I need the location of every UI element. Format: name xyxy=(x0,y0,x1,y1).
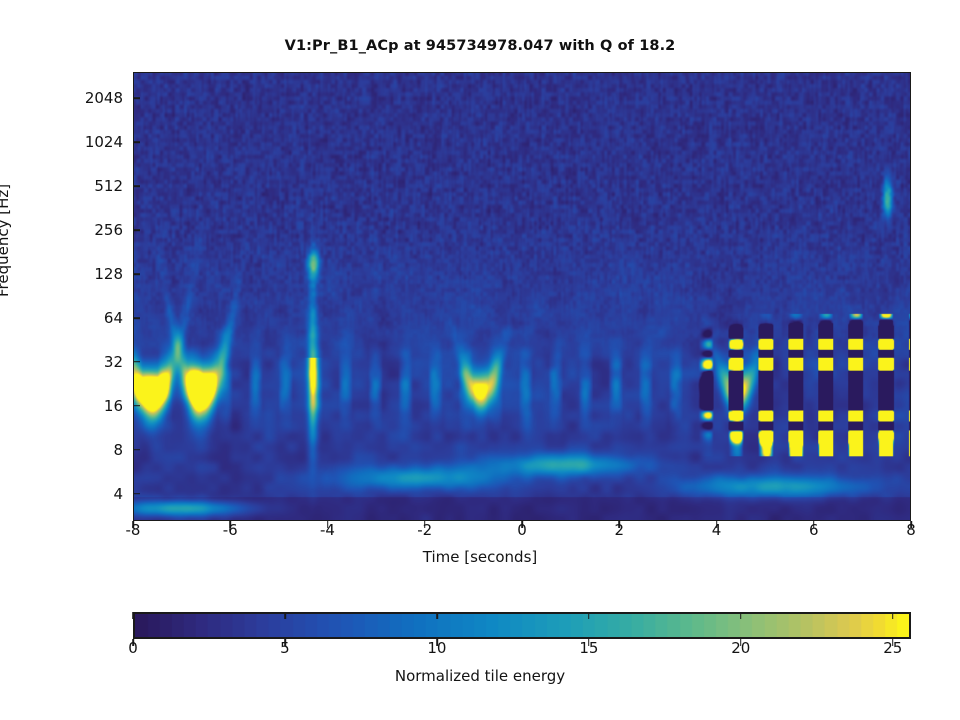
y-tick-mark-32 xyxy=(133,361,140,363)
colorbar-tick-mark-top-10 xyxy=(436,612,438,619)
x-tick-label-0: 0 xyxy=(517,521,527,539)
y-tick-mark-4 xyxy=(133,493,140,495)
y-tick-label-256: 256 xyxy=(61,221,123,239)
colorbar-tick-mark-top-0 xyxy=(132,612,134,619)
y-tick-label-16: 16 xyxy=(61,397,123,415)
x-tick-label--4: -4 xyxy=(320,521,335,539)
y-tick-mark-128 xyxy=(133,273,140,275)
y-tick-mark-8 xyxy=(133,449,140,451)
y-tick-mark-2048 xyxy=(133,97,140,99)
colorbar-tick-label-0: 0 xyxy=(128,639,138,657)
x-tick-label-8: 8 xyxy=(906,521,916,539)
colorbar-tick-label-10: 10 xyxy=(427,639,446,657)
x-tick-label-4: 4 xyxy=(712,521,722,539)
colorbar-tick-mark-top-15 xyxy=(588,612,590,619)
colorbar xyxy=(133,612,911,639)
y-tick-label-128: 128 xyxy=(61,265,123,283)
y-tick-mark-512 xyxy=(133,185,140,187)
y-axis-label: Frequency [Hz] xyxy=(0,184,12,297)
y-tick-mark-256 xyxy=(133,229,140,231)
colorbar-tick-mark-top-20 xyxy=(740,612,742,619)
y-tick-label-32: 32 xyxy=(61,353,123,371)
colorbar-tick-label-20: 20 xyxy=(731,639,750,657)
colorbar-gradient xyxy=(135,614,909,637)
colorbar-tick-label-5: 5 xyxy=(280,639,290,657)
x-tick-label-6: 6 xyxy=(809,521,819,539)
y-tick-label-64: 64 xyxy=(61,309,123,327)
spectrogram-axes[interactable] xyxy=(133,72,911,521)
x-axis-label: Time [seconds] xyxy=(0,548,960,566)
figure-title: V1:Pr_B1_ACp at 945734978.047 with Q of … xyxy=(0,38,960,54)
y-tick-label-1024: 1024 xyxy=(61,133,123,151)
y-tick-label-4: 4 xyxy=(61,485,123,503)
y-tick-label-8: 8 xyxy=(61,441,123,459)
x-tick-label--6: -6 xyxy=(223,521,238,539)
colorbar-tick-label-25: 25 xyxy=(883,639,902,657)
y-tick-label-512: 512 xyxy=(61,177,123,195)
y-tick-mark-64 xyxy=(133,317,140,319)
colorbar-tick-label-15: 15 xyxy=(579,639,598,657)
x-tick-label-2: 2 xyxy=(614,521,624,539)
y-tick-mark-16 xyxy=(133,405,140,407)
y-tick-mark-1024 xyxy=(133,141,140,143)
figure-canvas-root: V1:Pr_B1_ACp at 945734978.047 with Q of … xyxy=(0,0,960,720)
x-tick-label--8: -8 xyxy=(126,521,141,539)
colorbar-tick-mark-top-5 xyxy=(284,612,286,619)
colorbar-label: Normalized tile energy xyxy=(0,667,960,685)
y-tick-label-2048: 2048 xyxy=(61,89,123,107)
x-tick-label--2: -2 xyxy=(417,521,432,539)
spectrogram-image[interactable] xyxy=(134,73,910,520)
colorbar-tick-mark-top-25 xyxy=(892,612,894,619)
